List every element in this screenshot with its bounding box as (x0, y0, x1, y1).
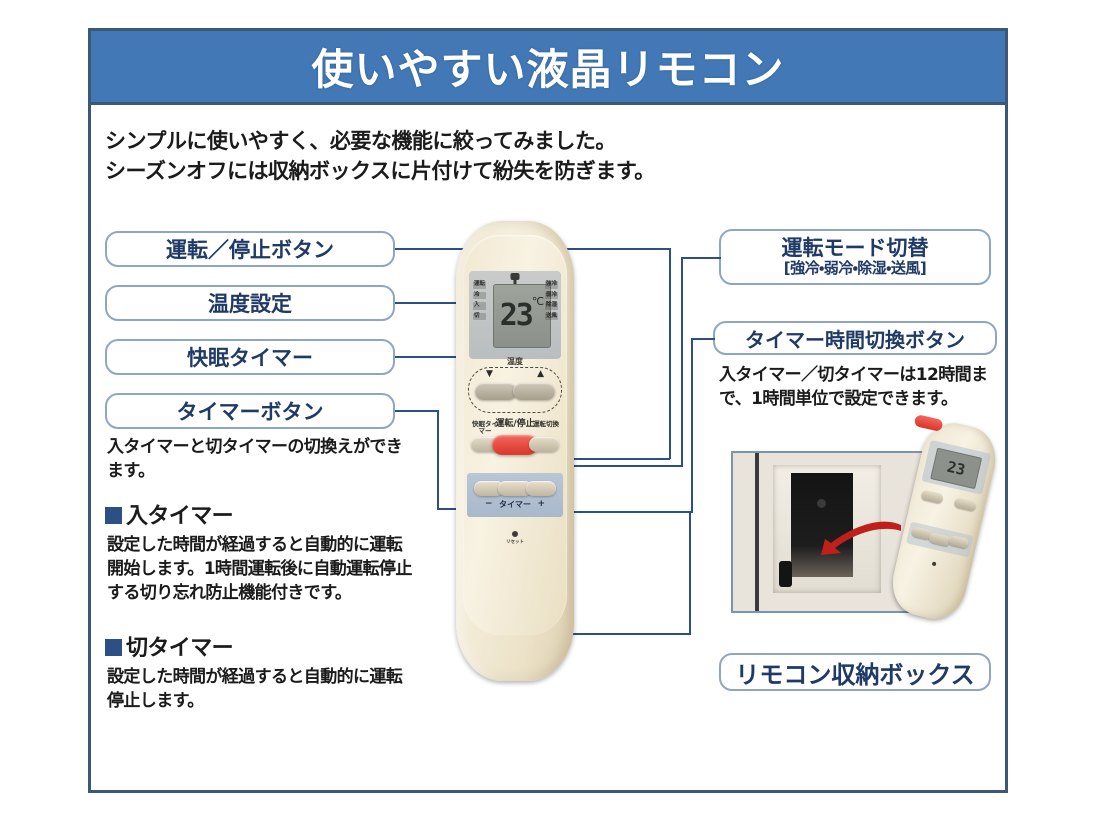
ir-emitter-icon (511, 273, 520, 280)
reset-button[interactable] (512, 531, 518, 537)
connector-mode-end (569, 465, 683, 467)
callout-storage-box: リモコン収納ボックス (719, 653, 991, 691)
temperature-up-button[interactable] (513, 383, 555, 400)
timer-panel-label: タイマー (467, 499, 563, 510)
mini-remote-button-right (953, 497, 977, 512)
timer-intro-text: 入タイマーと切タイマーの切換えができます。 (107, 435, 407, 483)
mini-remote-power-button (914, 414, 944, 432)
lcd-indicator-fan: 送風 (545, 313, 558, 321)
lcd-indicator-cool: 冷 (473, 292, 486, 300)
remote-face: 運転 冷 入 切 23 ℃ 強冷 弱冷 除湿 送風 温度 ▼ (463, 235, 567, 635)
cavity-small-object (779, 561, 792, 587)
callout-operation-mode-sub: [強冷・弱冷・除湿・送風] (784, 260, 927, 277)
callout-temperature-setting: 温度設定 (105, 285, 395, 321)
lcd-indicator-strong-cool: 強冷 (545, 281, 558, 289)
on-timer-heading-label: 入タイマー (126, 504, 233, 529)
callout-power-button: 運転／停止ボタン (105, 231, 395, 267)
main-button-row: 快眠タイマー 運転/停止 運転切換 (463, 421, 567, 467)
callout-storage-box-label: リモコン収納ボックス (735, 655, 974, 690)
temp-up-arrow-icon: ▲ (537, 370, 544, 379)
lcd-indicator-weak-cool: 弱冷 (545, 292, 558, 300)
insertion-arrow-icon (819, 519, 903, 561)
connector-timerswitch (691, 338, 715, 340)
storage-box-photo: 23 (731, 423, 981, 639)
temperature-button-group: 温度 ▼ ▲ (468, 367, 562, 413)
timer-panel: − タイマー + (467, 473, 563, 517)
lead-line-1: シンプルに使いやすく、必要な機能に絞ってみました。 (105, 127, 745, 157)
connector-timerswitch-drop (691, 338, 693, 513)
lcd-zone: 運転 冷 入 切 23 ℃ 強冷 弱冷 除湿 送風 (469, 271, 561, 359)
mode-switch-button[interactable] (529, 437, 559, 452)
wall-edge (755, 453, 759, 611)
bullet-square-icon (105, 507, 122, 524)
callout-power-button-label: 運転／停止ボタン (166, 234, 334, 264)
cavity-knob-icon (817, 499, 826, 508)
reset-label: リセット (463, 539, 567, 545)
lcd-indicator-off: 切 (473, 313, 486, 321)
callout-temperature-setting-label: 温度設定 (208, 288, 292, 318)
connector-timer (395, 410, 439, 412)
callout-operation-mode: 運転モード切替 [強冷・弱冷・除湿・送風] (719, 229, 991, 285)
callout-timer-switch-button: タイマー時間切換ボタン (713, 321, 997, 355)
callout-timer-switch-button-label: タイマー時間切換ボタン (745, 324, 965, 353)
callout-timer-button-label: タイマーボタン (177, 396, 324, 426)
connector-timer-drop (437, 410, 439, 510)
callout-operation-mode-label: 運転モード切替 (782, 237, 929, 261)
timer-plus-sign: + (537, 499, 545, 509)
on-timer-heading: 入タイマー (105, 501, 233, 532)
lcd-indicator-dehumidify: 除湿 (545, 302, 558, 310)
mini-remote-button-left (920, 489, 944, 504)
lead-paragraph: シンプルに使いやすく、必要な機能に絞ってみました。 シーズンオフには収納ボックス… (105, 127, 745, 187)
lcd-left-indicators: 運転 冷 入 切 (473, 281, 486, 320)
remote-control-illustration: 運転 冷 入 切 23 ℃ 強冷 弱冷 除湿 送風 温度 ▼ (456, 221, 574, 681)
temp-down-arrow-icon: ▼ (486, 370, 493, 379)
temperature-down-button[interactable] (475, 383, 517, 400)
mode-button-label: 運転切換 (530, 421, 562, 428)
callout-sleep-timer-label: 快眠タイマー (187, 342, 313, 372)
connector-mode-drop (681, 257, 683, 466)
off-timer-heading-label: 切タイマー (126, 636, 233, 661)
mini-remote-reset-dot (932, 561, 937, 566)
callout-timer-button: タイマーボタン (105, 393, 395, 429)
lcd-indicator-on: 入 (473, 302, 486, 310)
connector-power-drop (669, 248, 671, 459)
timer-increase-button[interactable] (526, 481, 556, 496)
lcd-right-indicators: 強冷 弱冷 除湿 送風 (545, 281, 558, 320)
timer-switch-note: 入タイマー／切タイマーは12時間まで、1時間単位で設定できます。 (719, 363, 1004, 411)
off-timer-heading: 切タイマー (105, 633, 233, 664)
bullet-square-icon (105, 639, 122, 656)
lead-line-2: シーズンオフには収納ボックスに片付けて紛失を防ぎます。 (105, 157, 745, 187)
page-title: 使いやすい液晶リモコン (311, 36, 784, 97)
callout-sleep-timer: 快眠タイマー (105, 339, 395, 375)
on-timer-body: 設定した時間が経過すると自動的に運転開始します。1時間運転後に自動運転停止する切… (107, 533, 417, 605)
title-bar: 使いやすい液晶リモコン (91, 31, 1005, 105)
lcd-display: 23 ℃ (493, 284, 551, 348)
lcd-temperature-unit: ℃ (532, 295, 544, 308)
lcd-indicator-run: 運転 (473, 281, 486, 289)
connector-mode (683, 257, 721, 259)
slide-frame: 使いやすい液晶リモコン シンプルに使いやすく、必要な機能に絞ってみました。 シー… (88, 28, 1008, 793)
connector-timerswitch-end (559, 511, 693, 513)
off-timer-body: 設定した時間が経過すると自動的に運転停止します。 (107, 665, 417, 713)
lcd-temperature-value: 23 (500, 301, 532, 331)
connector-sleep (395, 356, 465, 358)
connector-bracket-up (689, 511, 691, 633)
temperature-group-label: 温度 (469, 356, 561, 367)
